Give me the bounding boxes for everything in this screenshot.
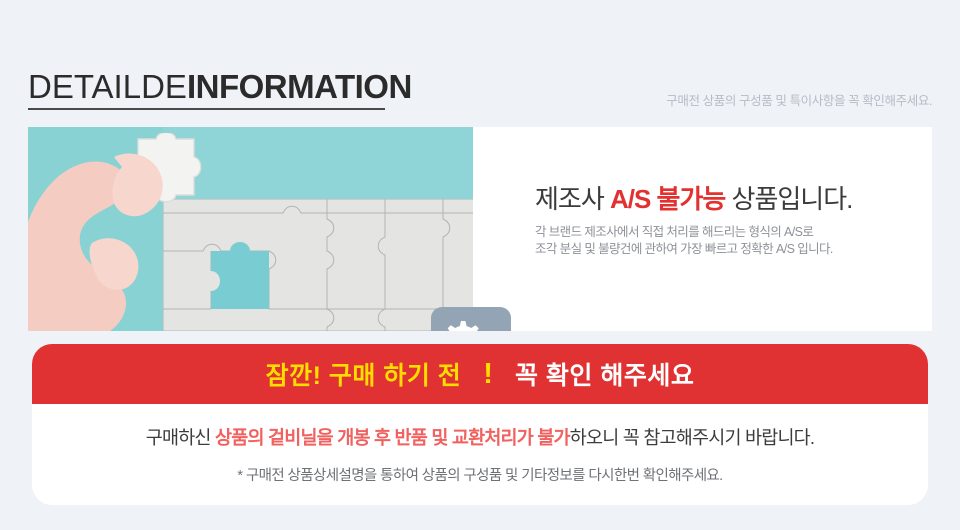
page-title-text: DETAILDEINFORMATION: [28, 68, 412, 106]
gears-icon: [431, 307, 511, 331]
puzzle-grid-lines: [163, 199, 473, 331]
empty-puzzle-slot: [211, 251, 269, 309]
notice-main-accent: 상품의 겉비닐을 개봉 후 반품 및 교환처리가 불가: [215, 427, 570, 448]
page-header: DETAILDEINFORMATION 구매전 상품의 구성품 및 특이사항을 …: [0, 0, 960, 127]
notice-banner-white-text: 꼭 확인 해주세요: [515, 356, 694, 392]
header-note: 구매전 상품의 구성품 및 특이사항을 꼭 확인해주세요.: [666, 90, 932, 109]
page-title-bold: INFORMATION: [187, 68, 412, 105]
notice-body: 구매하신 상품의 겉비닐을 개봉 후 반품 및 교환처리가 불가하오니 꼭 참고…: [32, 404, 928, 505]
page-title-light: DETAILDE: [28, 68, 187, 105]
page-title: DETAILDEINFORMATION: [28, 68, 412, 110]
as-info-card: 제조사 A/S 불가능 상품입니다. 각 브랜드 제조사에서 직접 처리를 해드…: [28, 127, 932, 331]
as-info-subtext-line1: 각 브랜드 제조사에서 직접 처리를 해드리는 형식의 A/S로: [535, 224, 932, 241]
as-info-text: 제조사 A/S 불가능 상품입니다. 각 브랜드 제조사에서 직접 처리를 해드…: [535, 183, 932, 258]
as-heading-pre: 제조사: [535, 184, 610, 214]
as-info-subtext: 각 브랜드 제조사에서 직접 처리를 해드리는 형식의 A/S로 조각 분실 및…: [535, 224, 932, 258]
as-info-subtext-line2: 조각 분실 및 불량건에 관하여 가장 빠르고 정확한 A/S 입니다.: [535, 241, 932, 258]
purchase-notice-card: 잠깐! 구매 하기 전 ! 꼭 확인 해주세요 구매하신 상품의 겉비닐을 개봉…: [32, 344, 928, 505]
title-underline: [28, 108, 385, 110]
as-heading-accent: A/S 불가능: [610, 184, 725, 214]
notice-banner-yellow-text: 잠깐! 구매 하기 전: [266, 356, 462, 392]
as-info-heading: 제조사 A/S 불가능 상품입니다.: [535, 183, 932, 215]
exclamation-icon: !: [477, 360, 499, 389]
notice-main-text: 구매하신 상품의 겉비닐을 개봉 후 반품 및 교환처리가 불가하오니 꼭 참고…: [146, 424, 814, 450]
notice-banner: 잠깐! 구매 하기 전 ! 꼭 확인 해주세요: [32, 344, 928, 404]
as-heading-post: 상품입니다.: [725, 184, 852, 214]
notice-main-post: 하오니 꼭 참고해주시기 바랍니다.: [570, 427, 814, 448]
notice-main-pre: 구매하신: [146, 427, 215, 448]
hand-illustration: [28, 131, 208, 331]
puzzle-hand-photo: [28, 127, 473, 331]
puzzle-board: [163, 199, 473, 331]
notice-sub-text: * 구매전 상품상세설명을 통하여 상품의 구성품 및 기타정보를 다시한번 확…: [237, 464, 722, 485]
